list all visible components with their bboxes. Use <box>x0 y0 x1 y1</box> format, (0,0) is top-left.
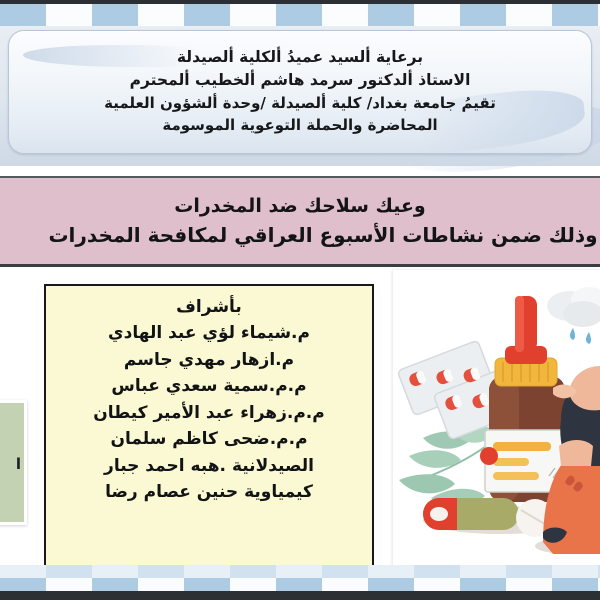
banner-subtitle: وذلك ضمن نشاطات الأسبوع العراقي لمكافحة … <box>48 220 597 250</box>
supervisors-name-list: م.شيماء لؤي عبد الهادي م.ازهار مهدي جاسم… <box>58 320 360 506</box>
header-line-event-type: المحاضرة والحملة التوعوية الموسومة <box>162 114 437 136</box>
list-item: الصيدلانية .هبه احمد جبار <box>58 453 360 480</box>
frame-bottom-bar <box>0 591 600 600</box>
checkered-strip-bottom <box>0 565 600 591</box>
rain-cloud-icon <box>547 287 600 344</box>
header-text-box: برعاية ألسيد عميدُ ألكلية ألصيدلة الاستا… <box>8 30 592 154</box>
slogan-banner: وعيك سلاحك ضد المخدرات وذلك ضمن نشاطات ا… <box>0 176 600 267</box>
supervisors-card: بأشراف م.شيماء لؤي عبد الهادي م.ازهار مه… <box>44 284 374 570</box>
illustration-panel <box>393 270 600 570</box>
list-item: م.ازهار مهدي جاسم <box>58 347 360 374</box>
green-side-panel: ا <box>0 400 27 525</box>
list-item: م.م.زهراء عبد الأمير كيطان <box>58 400 360 427</box>
capsule-pill-icon <box>423 498 519 530</box>
header-line-organizer: تقيمُ جامعة بغداد/ كلية ألصيدلة /وحدة أل… <box>104 92 496 114</box>
dropper-bottle-icon <box>480 296 565 502</box>
header-line-dean-name: الاستاذ ألدكتور سرمد هاشم ألخطيب ألمحترم <box>130 69 471 92</box>
medicine-illustration <box>393 270 600 570</box>
header-line-patronage: برعاية ألسيد عميدُ ألكلية ألصيدلة <box>177 46 423 69</box>
checkered-strip-top <box>0 4 600 26</box>
list-item: م.م.ضحى كاظم سلمان <box>58 426 360 453</box>
banner-slogan: وعيك سلاحك ضد المخدرات <box>174 192 426 221</box>
list-item: م.شيماء لؤي عبد الهادي <box>58 320 360 347</box>
frame-top-bar <box>0 0 600 4</box>
poster-canvas: برعاية ألسيد عميدُ ألكلية ألصيدلة الاستا… <box>0 0 600 600</box>
supervisors-heading: بأشراف <box>176 294 242 320</box>
list-item: م.م.سمية سعدي عباس <box>58 373 360 400</box>
green-panel-text-fragment: ا <box>16 455 21 473</box>
list-item: كيمياوية حنين عصام رضا <box>58 479 360 506</box>
leaf-branch-icon <box>399 426 497 507</box>
